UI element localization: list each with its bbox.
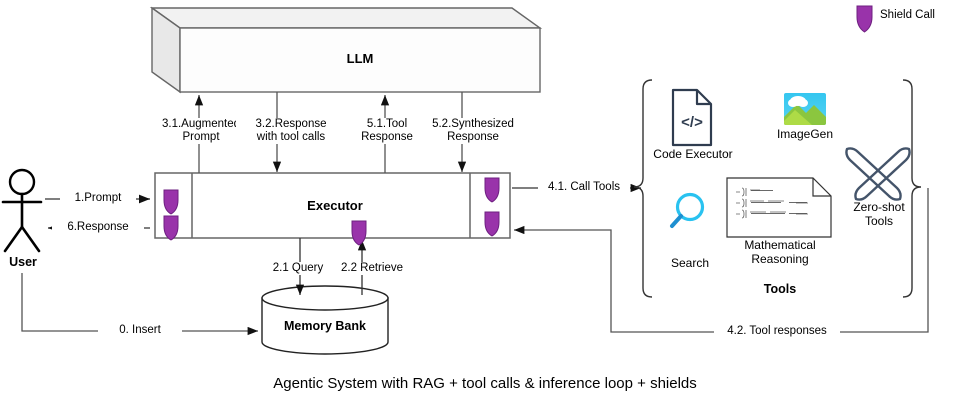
executor-label: Executor xyxy=(265,199,405,212)
diagram-vector-layer: </> xyxy=(0,0,970,411)
shield-icon-memory xyxy=(352,221,366,245)
crossed-wrenches-icon xyxy=(846,148,909,199)
tools-group-label: Tools xyxy=(740,283,820,296)
diagram-canvas: </> xyxy=(0,0,970,411)
magnifier-icon xyxy=(672,195,703,227)
image-icon xyxy=(784,93,826,125)
llm-label: LLM xyxy=(290,52,430,65)
edge-label-insert: 0. Insert xyxy=(98,324,182,337)
edge-label-retrieve: 2.2 Retrieve xyxy=(332,262,412,275)
llm-node xyxy=(152,8,540,92)
shield-icon-legend xyxy=(857,6,872,32)
user-actor xyxy=(3,170,41,251)
edge-label-response: 6.Response xyxy=(52,221,144,234)
tool-label-code-executor: Code Executor xyxy=(645,147,741,161)
diagram-caption: Agentic System with RAG + tool calls & i… xyxy=(0,375,970,392)
formula-document-icon xyxy=(727,178,831,237)
legend-shield-label: Shield Call xyxy=(880,8,966,22)
edge-label-synthesized-response: 5.2.Synthesized Response xyxy=(418,118,528,144)
edge-label-response-with-tool-calls: 3.2.Response with tool calls xyxy=(236,118,346,144)
user-label: User xyxy=(0,256,46,269)
svg-text:</>: </> xyxy=(681,114,703,131)
tool-label-zero-shot-tools: Zero-shot Tools xyxy=(840,200,918,228)
edge-label-call-tools: 4.1. Call Tools xyxy=(538,181,630,194)
edge-label-tool-responses: 4.2. Tool responses xyxy=(714,325,840,338)
edge-label-query: 2.1 Query xyxy=(266,262,330,275)
memory-bank-label: Memory Bank xyxy=(265,320,385,333)
edge-insert xyxy=(22,273,258,331)
tool-label-imagegen: ImageGen xyxy=(770,127,840,141)
code-file-icon: </> xyxy=(673,90,711,145)
tool-label-math-reasoning: Mathematical Reasoning xyxy=(729,238,831,266)
tool-label-search: Search xyxy=(659,256,721,270)
edge-label-prompt: 1.Prompt xyxy=(60,192,136,205)
tools-brace-right xyxy=(903,80,921,297)
